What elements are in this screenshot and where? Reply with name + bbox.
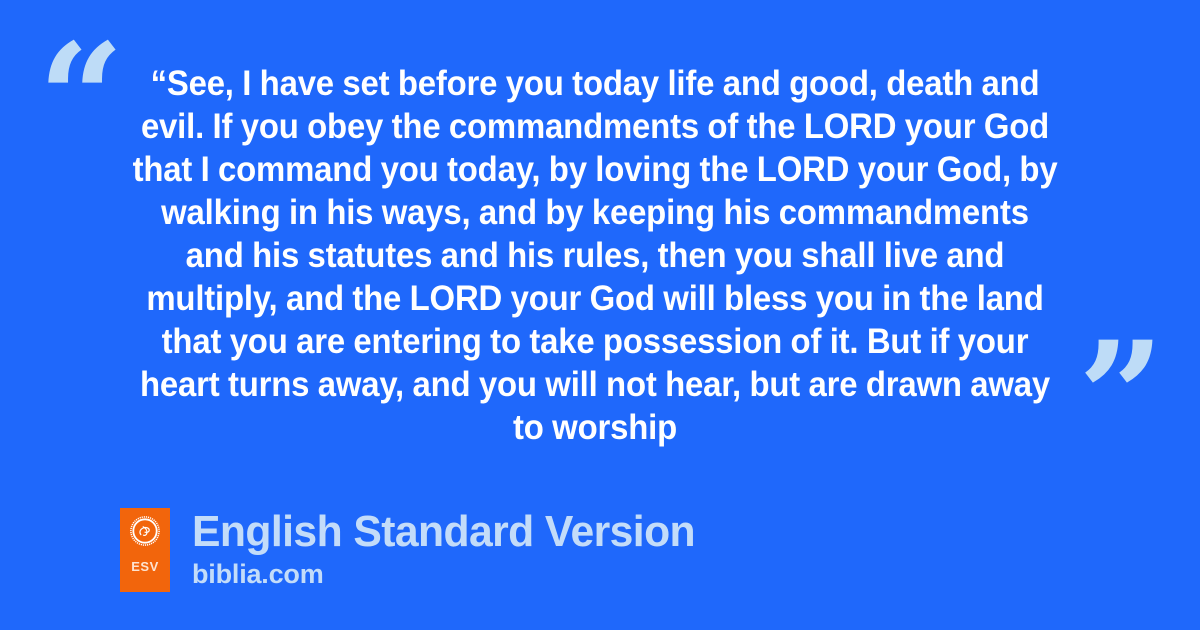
quote-close-icon: ” <box>1078 322 1164 472</box>
attribution-footer: ESV English Standard Version biblia.com <box>120 508 711 592</box>
verse-text: “See, I have set before you today life a… <box>130 62 1061 449</box>
esv-seal-icon <box>130 516 160 546</box>
website-label: biblia.com <box>192 559 711 589</box>
bible-version-title: English Standard Version <box>192 509 695 555</box>
esv-logo-tile: ESV <box>120 508 170 592</box>
verse-block: “See, I have set before you today life a… <box>100 62 1090 449</box>
verse-card: “ ” “See, I have set before you today li… <box>0 0 1200 630</box>
logo-abbreviation: ESV <box>131 560 159 573</box>
attribution-text-group: English Standard Version biblia.com <box>192 508 711 589</box>
